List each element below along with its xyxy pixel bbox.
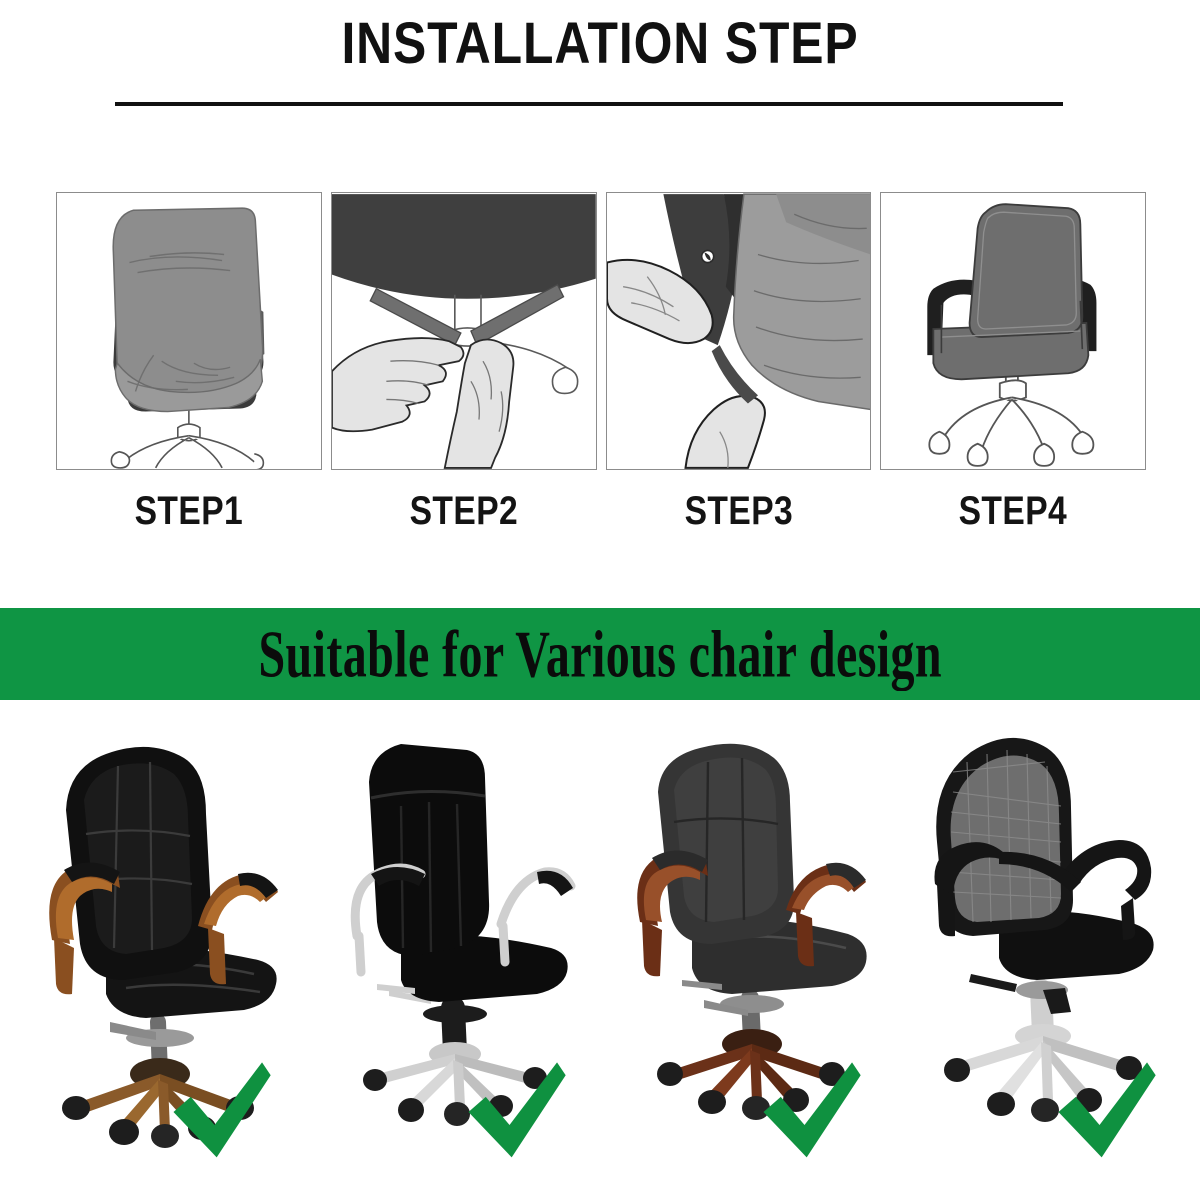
step2-illustration	[332, 193, 596, 469]
title-divider	[115, 102, 1063, 106]
black-high-back-chair-chrome-arms	[305, 722, 600, 1172]
black-leather-executive-chair-wood-arms	[10, 722, 305, 1172]
compatible-chairs-row	[10, 722, 1190, 1172]
chair-card-2	[305, 722, 600, 1172]
grey-leather-chair-mahogany-arms	[600, 722, 895, 1172]
page-title-block: INSTALLATION STEP	[0, 14, 1200, 75]
step-label-3: STEP3	[627, 489, 850, 534]
step-panel-1	[56, 192, 322, 470]
chair-card-1	[10, 722, 305, 1172]
step3-illustration	[607, 193, 871, 469]
step-label-2: STEP2	[352, 489, 575, 534]
step-panel-4	[880, 192, 1146, 470]
step-label-4: STEP4	[902, 489, 1125, 534]
suitability-banner-text: Suitable for Various chair design	[258, 615, 942, 692]
installation-steps-row	[56, 192, 1146, 470]
page-title: INSTALLATION STEP	[84, 14, 1116, 75]
step-labels-row: STEP1 STEP2 STEP3 STEP4	[56, 489, 1146, 534]
chair-card-4	[895, 722, 1190, 1172]
step4-illustration	[881, 193, 1145, 469]
step-panel-3	[606, 192, 872, 470]
mesh-back-task-chair-chrome-base	[895, 722, 1190, 1172]
step1-illustration	[57, 193, 321, 469]
step-label-1: STEP1	[77, 489, 300, 534]
suitability-banner: Suitable for Various chair design	[0, 608, 1200, 700]
chair-card-3	[600, 722, 895, 1172]
step-panel-2	[331, 192, 597, 470]
